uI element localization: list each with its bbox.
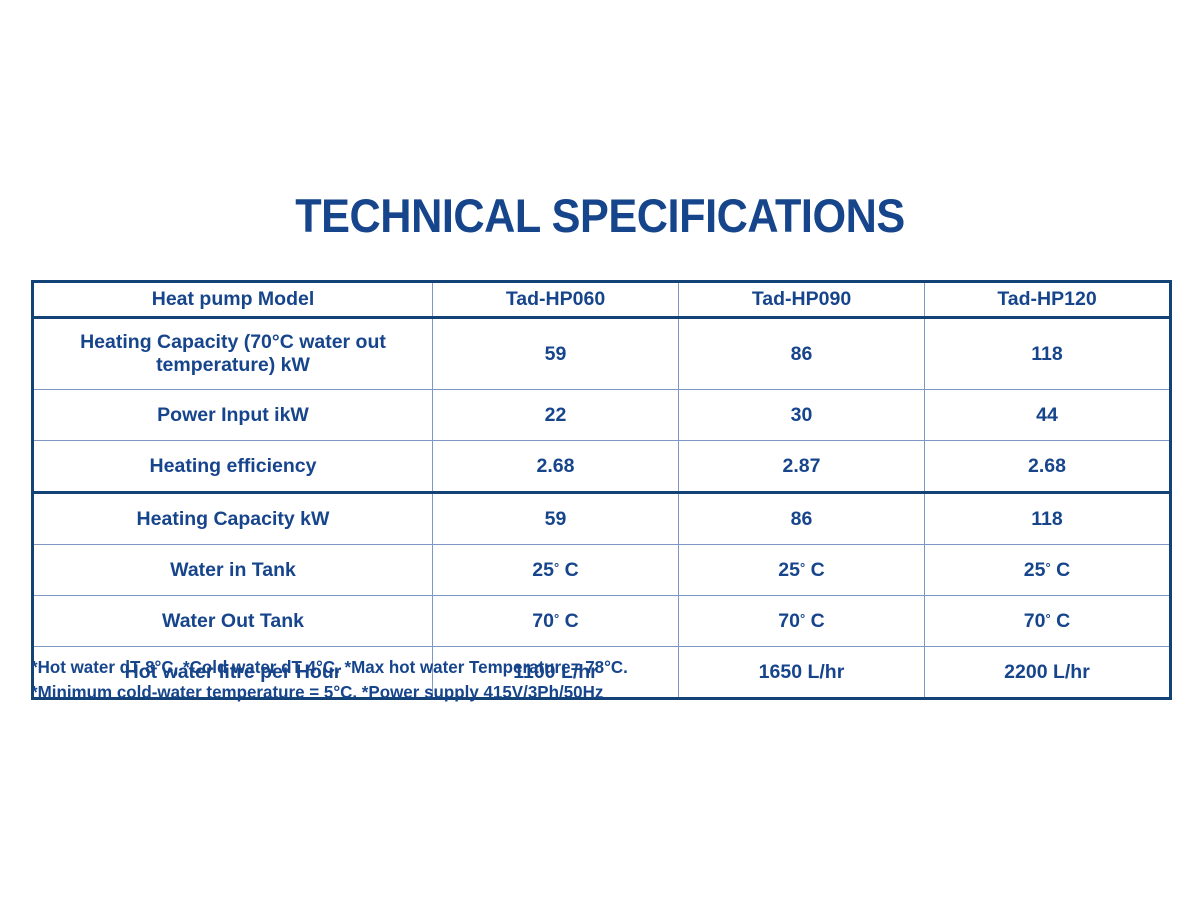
cell-water-out-tank-hp060: 70° C	[433, 596, 679, 647]
value-unit: C	[565, 559, 579, 581]
cell-heating-efficiency-hp120: 2.68	[925, 441, 1171, 493]
row-label-heating-capacity: Heating Capacity kW	[33, 493, 433, 545]
value-number: 25	[1024, 559, 1046, 581]
degree-icon: °	[800, 560, 805, 575]
row-label-power-input: Power Input ikW	[33, 390, 433, 441]
cell-heating-capacity-hp090: 86	[679, 493, 925, 545]
cell-water-in-tank-hp090: 25° C	[679, 545, 925, 596]
footnote-line-2: *Minimum cold-water temperature = 5°C. *…	[31, 680, 1098, 705]
cell-heating-efficiency-hp090: 2.87	[679, 441, 925, 493]
column-header-hp090: Tad-HP090	[679, 282, 925, 318]
column-header-model: Heat pump Model	[33, 282, 433, 318]
value-unit: C	[811, 610, 825, 632]
table-row: Water in Tank 25° C 25° C 25° C	[33, 545, 1171, 596]
cell-water-in-tank-hp060: 25° C	[433, 545, 679, 596]
cell-power-input-hp090: 30	[679, 390, 925, 441]
table-row: Heating Capacity kW 59 86 118	[33, 493, 1171, 545]
cell-heating-capacity-70c-hp090: 86	[679, 318, 925, 390]
value-number: 70	[778, 610, 800, 632]
cell-water-out-tank-hp120: 70° C	[925, 596, 1171, 647]
degree-icon: °	[554, 611, 559, 626]
value-number: 70	[532, 610, 554, 632]
value-unit: C	[811, 559, 825, 581]
specifications-page: TECHNICAL SPECIFICATIONS Heat pump Model…	[0, 0, 1200, 900]
cell-heating-capacity-hp120: 118	[925, 493, 1171, 545]
degree-icon: °	[800, 611, 805, 626]
cell-heating-capacity-70c-hp120: 118	[925, 318, 1171, 390]
value-number: 25	[532, 559, 554, 581]
footnotes: *Hot water dT 8°C, *Cold water dT 4°C. *…	[31, 655, 1098, 706]
specifications-table: Heat pump Model Tad-HP060 Tad-HP090 Tad-…	[31, 280, 1172, 700]
value-unit: C	[1056, 610, 1070, 632]
table-row: Water Out Tank 70° C 70° C 70° C	[33, 596, 1171, 647]
row-label-line-2: temperature) kW	[156, 354, 310, 376]
specifications-table-container: Heat pump Model Tad-HP060 Tad-HP090 Tad-…	[31, 280, 1169, 700]
cell-water-in-tank-hp120: 25° C	[925, 545, 1171, 596]
cell-heating-capacity-hp060: 59	[433, 493, 679, 545]
value-number: 25	[778, 559, 800, 581]
column-header-hp120: Tad-HP120	[925, 282, 1171, 318]
table-header-row: Heat pump Model Tad-HP060 Tad-HP090 Tad-…	[33, 282, 1171, 318]
row-label-water-in-tank: Water in Tank	[33, 545, 433, 596]
degree-icon: °	[1045, 560, 1050, 575]
column-header-hp060: Tad-HP060	[433, 282, 679, 318]
cell-power-input-hp060: 22	[433, 390, 679, 441]
value-number: 70	[1024, 610, 1046, 632]
table-row: Heating efficiency 2.68 2.87 2.68	[33, 441, 1171, 493]
cell-heating-capacity-70c-hp060: 59	[433, 318, 679, 390]
row-label-water-out-tank: Water Out Tank	[33, 596, 433, 647]
cell-heating-efficiency-hp060: 2.68	[433, 441, 679, 493]
degree-icon: °	[554, 560, 559, 575]
row-label-line-1: Heating Capacity (70°C water out	[80, 331, 386, 353]
page-title: TECHNICAL SPECIFICATIONS	[48, 188, 1152, 243]
cell-water-out-tank-hp090: 70° C	[679, 596, 925, 647]
row-label-heating-capacity-70c: Heating Capacity (70°C water out tempera…	[33, 318, 433, 390]
footnote-line-1: *Hot water dT 8°C, *Cold water dT 4°C. *…	[31, 655, 1098, 680]
table-row: Heating Capacity (70°C water out tempera…	[33, 318, 1171, 390]
table-row: Power Input ikW 22 30 44	[33, 390, 1171, 441]
value-unit: C	[565, 610, 579, 632]
cell-power-input-hp120: 44	[925, 390, 1171, 441]
value-unit: C	[1056, 559, 1070, 581]
degree-icon: °	[1045, 611, 1050, 626]
row-label-heating-efficiency: Heating efficiency	[33, 441, 433, 493]
